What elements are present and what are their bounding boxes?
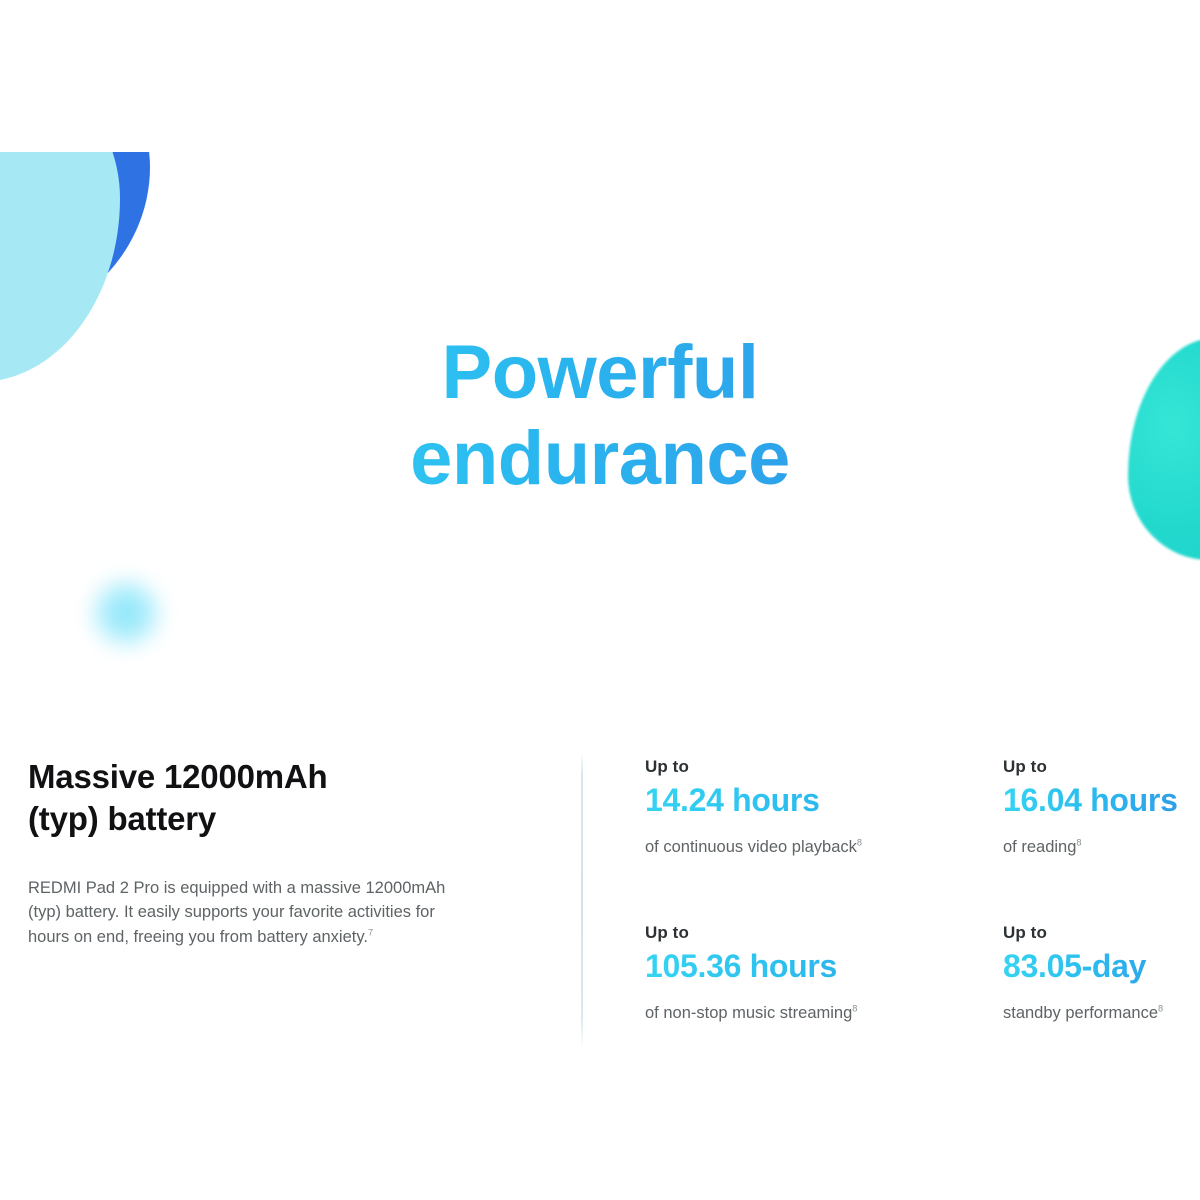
stat-eyebrow: Up to — [1003, 922, 1200, 944]
stat-card-reading: Up to 16.04 hours of reading8 — [1003, 756, 1200, 922]
stat-description: of reading8 — [1003, 820, 1200, 859]
feature-heading: Massive 12000mAh (typ) battery — [28, 756, 498, 839]
feature-description-column: Massive 12000mAh (typ) battery REDMI Pad… — [28, 756, 498, 949]
stat-value: 83.05-day — [1003, 944, 1200, 985]
feature-body: REDMI Pad 2 Pro is equipped with a massi… — [28, 839, 470, 949]
stat-card-music-streaming: Up to 105.36 hours of non-stop music str… — [645, 922, 1003, 1025]
stat-eyebrow: Up to — [645, 922, 1003, 944]
stat-footnote: 8 — [1158, 1003, 1163, 1013]
stat-value: 16.04 hours — [1003, 778, 1200, 819]
hero-title-line-1: Powerful — [300, 330, 900, 416]
cyan-glow-dot — [88, 576, 164, 650]
top-left-blob-group — [0, 152, 210, 382]
feature-heading-line-2: (typ) battery — [28, 800, 216, 837]
stat-description-text: of reading — [1003, 838, 1076, 856]
battery-stats-grid: Up to 14.24 hours of continuous video pl… — [645, 756, 1200, 1025]
promo-page: Powerful endurance Massive 12000mAh (typ… — [0, 0, 1200, 1200]
stat-eyebrow: Up to — [1003, 756, 1200, 778]
stat-description: standby performance8 — [1003, 986, 1200, 1025]
vertical-divider — [581, 752, 583, 1048]
stat-footnote: 8 — [1076, 837, 1081, 847]
stat-description-text: standby performance — [1003, 1004, 1158, 1022]
stat-description-text: of continuous video playback — [645, 838, 857, 856]
stat-card-standby: Up to 83.05-day standby performance8 — [1003, 922, 1200, 1025]
stat-description-text: of non-stop music streaming — [645, 1004, 852, 1022]
hero-title-line-2: endurance — [300, 416, 900, 502]
stat-description: of non-stop music streaming8 — [645, 986, 1003, 1025]
stat-footnote: 8 — [852, 1003, 857, 1013]
stat-value: 105.36 hours — [645, 944, 1003, 985]
stat-eyebrow: Up to — [645, 756, 1003, 778]
teal-blob-shape — [1128, 338, 1200, 560]
feature-body-text: REDMI Pad 2 Pro is equipped with a massi… — [28, 879, 445, 946]
content-section: Massive 12000mAh (typ) battery REDMI Pad… — [0, 748, 1200, 1058]
blue-wedge-shape — [0, 152, 150, 332]
stat-footnote: 8 — [857, 837, 862, 847]
stat-description: of continuous video playback8 — [645, 820, 1003, 859]
stat-card-video-playback: Up to 14.24 hours of continuous video pl… — [645, 756, 1003, 922]
feature-heading-line-1: Massive 12000mAh — [28, 758, 328, 795]
stat-value: 14.24 hours — [645, 778, 1003, 819]
cyan-blob-shape — [0, 152, 120, 382]
hero-title: Powerful endurance — [300, 330, 900, 502]
feature-body-footnote: 7 — [368, 927, 373, 937]
